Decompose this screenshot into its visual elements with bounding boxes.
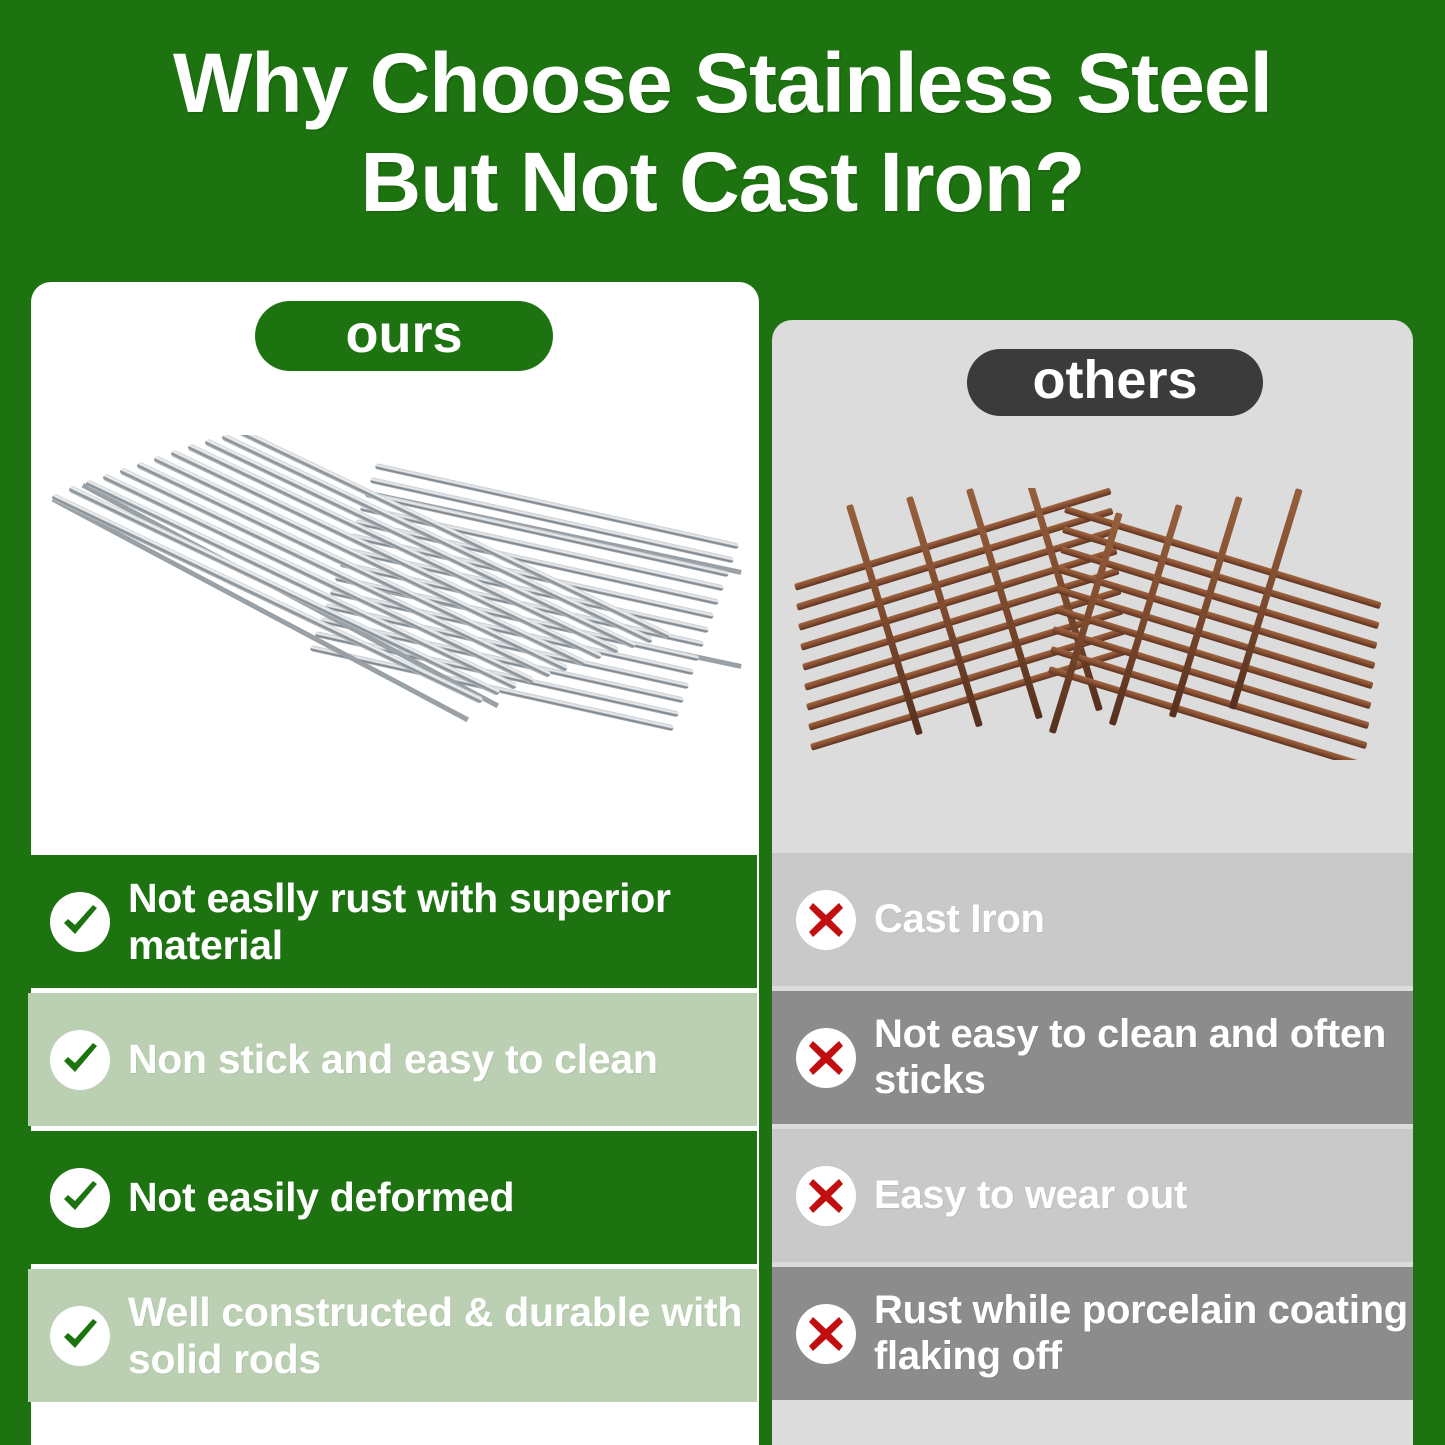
list-item-label: Rust while porcelain coating flaking off	[874, 1288, 1413, 1379]
badge-others-label: others	[1032, 353, 1197, 407]
check-icon	[48, 890, 112, 954]
list-item: Easy to wear out	[772, 1129, 1413, 1262]
list-item-label: Not easlly rust with superior material	[128, 875, 757, 968]
title-line-2: But Not Cast Iron?	[0, 133, 1445, 232]
page-title: Why Choose Stainless Steel But Not Cast …	[0, 34, 1445, 232]
cast-iron-grates-image	[786, 488, 1402, 760]
badge-others: others	[967, 349, 1263, 416]
list-item: Non stick and easy to clean	[28, 993, 757, 1126]
title-line-1: Why Choose Stainless Steel	[0, 34, 1445, 133]
list-item-label: Well constructed & durable with solid ro…	[128, 1289, 757, 1382]
list-item-label: Non stick and easy to clean	[128, 1036, 658, 1083]
list-item: Not easily deformed	[28, 1131, 757, 1264]
check-icon	[48, 1028, 112, 1092]
badge-ours: ours	[255, 301, 553, 371]
list-item-label: Cast Iron	[874, 897, 1045, 943]
check-icon	[48, 1304, 112, 1368]
list-item: Not easy to clean and often sticks	[772, 991, 1413, 1124]
stainless-steel-grates-image	[40, 435, 752, 735]
list-item: Well constructed & durable with solid ro…	[28, 1269, 757, 1402]
list-item: Cast Iron	[772, 853, 1413, 986]
badge-ours-label: ours	[345, 307, 462, 361]
comparison-infographic: Why Choose Stainless Steel But Not Cast …	[0, 0, 1445, 1445]
cross-icon	[794, 1026, 858, 1090]
list-item: Rust while porcelain coating flaking off	[772, 1267, 1413, 1400]
cross-icon	[794, 1164, 858, 1228]
list-item-label: Easy to wear out	[874, 1173, 1187, 1219]
check-icon	[48, 1166, 112, 1230]
list-item-label: Not easily deformed	[128, 1174, 514, 1221]
list-item: Not easlly rust with superior material	[28, 855, 757, 988]
others-feature-list: Cast Iron Not easy to clean and often st…	[772, 853, 1413, 1405]
ours-feature-list: Not easlly rust with superior material N…	[28, 855, 757, 1407]
cross-icon	[794, 888, 858, 952]
cross-icon	[794, 1302, 858, 1366]
list-item-label: Not easy to clean and often sticks	[874, 1012, 1413, 1103]
